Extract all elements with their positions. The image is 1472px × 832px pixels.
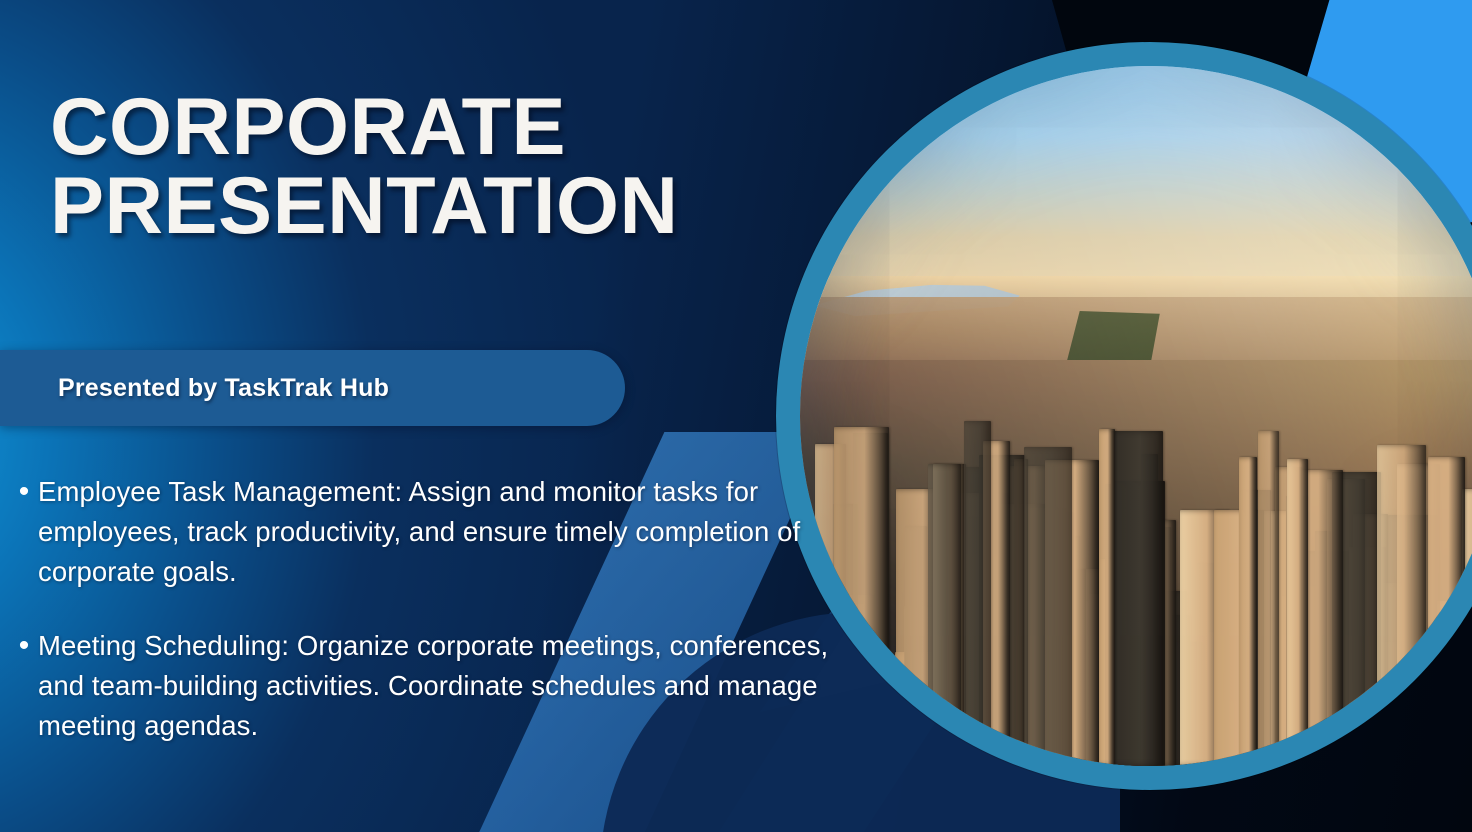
page-title: CORPORATE PRESENTATION <box>50 88 810 247</box>
list-item: • Meeting Scheduling: Organize corporate… <box>10 626 840 746</box>
sky-gradient <box>800 66 1472 304</box>
list-item-text: Meeting Scheduling: Organize corporate m… <box>38 626 840 746</box>
list-item-text: Employee Task Management: Assign and mon… <box>38 472 840 592</box>
presenter-badge: Presented by TaskTrak Hub <box>0 350 625 426</box>
bullet-marker-icon: • <box>10 472 38 592</box>
presentation-slide: CORPORATE PRESENTATION Presented by Task… <box>0 0 1472 832</box>
photo-ring <box>776 42 1472 790</box>
presenter-badge-label: Presented by TaskTrak Hub <box>0 374 389 403</box>
list-item: • Employee Task Management: Assign and m… <box>10 472 840 592</box>
bullet-list: • Employee Task Management: Assign and m… <box>10 472 840 780</box>
city-skyline-image <box>800 66 1472 766</box>
title-line-2: PRESENTATION <box>50 167 810 246</box>
title-line-1: CORPORATE <box>50 88 810 167</box>
bullet-marker-icon: • <box>10 626 38 746</box>
building-cluster <box>800 332 1472 766</box>
